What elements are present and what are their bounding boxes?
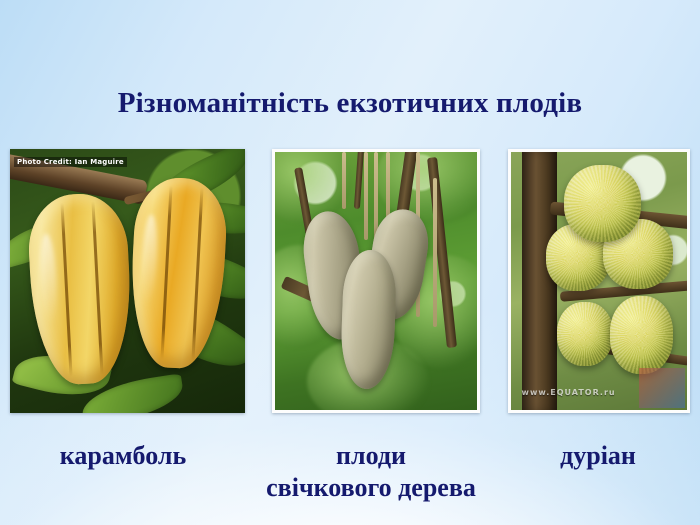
branch-icon [354,152,364,209]
durian-fruit-shape [557,302,613,367]
photo-durian-canvas: www.EQUATOR.ru [511,152,687,410]
caption-carambola: карамболь [0,440,246,472]
photo-watermark: www.EQUATOR.ru [522,388,616,397]
fruit-stalk [364,152,368,240]
durian-fruit-shape [610,296,673,373]
candle-tree-scene [275,152,477,410]
watermark-badge [639,368,685,408]
highlight [140,214,159,306]
starfruit-rib [60,202,72,377]
caption-candle-tree-fruit: плоди свічкового дерева [246,440,496,503]
photo-candle-tree-canvas [275,152,477,410]
photo-row: Photo Credit: Ian Maguire [0,149,700,415]
starfruit-rib [161,185,173,360]
photo-carambola[interactable]: Photo Credit: Ian Maguire [10,149,245,413]
caption-row: карамболь плоди свічкового дерева дуріан [0,440,700,525]
fruit-stalk [433,178,437,328]
photo-candle-tree-fruit[interactable] [272,149,480,413]
fruit-stalk [342,152,346,209]
highlight [38,233,59,325]
photo-carambola-canvas: Photo Credit: Ian Maguire [10,149,245,413]
tree-trunk-icon [522,152,557,410]
photo-durian[interactable]: www.EQUATOR.ru [508,149,690,413]
page-title: Різноманітність екзотичних плодів [0,88,700,120]
photo-credit: Photo Credit: Ian Maguire [14,157,127,167]
durian-scene: www.EQUATOR.ru [511,152,687,410]
caption-durian: дуріан [496,440,700,472]
starfruit-rib [92,201,104,376]
foliage-icon [275,152,352,224]
starfruit-rib [192,187,204,362]
slide: Різноманітність екзотичних плодів [0,0,700,525]
caption-candle-tree-fruit-line2: свічкового дерева [246,472,496,504]
durian-fruit-shape [564,165,641,242]
caption-candle-tree-fruit-line1: плоди [246,440,496,472]
carambola-scene [10,149,245,413]
